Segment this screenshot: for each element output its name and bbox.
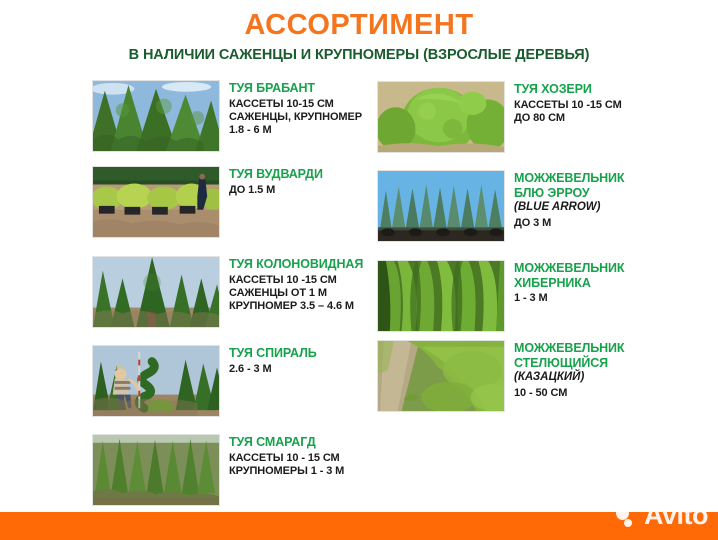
assortment-columns: ТУЯ БРАБАНТ КАССЕТЫ 10-15 СМ САЖЕНЦЫ, КР… — [0, 80, 718, 500]
list-item[interactable]: ТУЯ БРАБАНТ КАССЕТЫ 10-15 СМ САЖЕНЦЫ, КР… — [92, 80, 362, 152]
list-item[interactable]: МОЖЖЕВЕЛЬНИК БЛЮ ЭРРОУ (BLUE ARROW) ДО 3… — [377, 170, 624, 242]
plant-name: МОЖЖЕВЕЛЬНИК ХИБЕРНИКА — [514, 261, 624, 290]
thuja-hoseri-photo — [377, 81, 505, 153]
item-text: МОЖЖЕВЕЛЬНИК СТЕЛЮЩИЙСЯ (КАЗАЦКИЙ) 10 - … — [514, 340, 624, 400]
plant-spec: КАССЕТЫ 10-15 СМ САЖЕНЦЫ, КРУПНОМЕР 1.8 … — [229, 98, 362, 138]
plant-name: МОЖЖЕВЕЛЬНИК БЛЮ ЭРРОУ — [514, 171, 624, 200]
item-text: ТУЯ СПИРАЛЬ 2.6 - 3 М — [229, 345, 317, 376]
thuja-woodwardii-photo — [92, 166, 220, 238]
item-text: ТУЯ ХОЗЕРИ КАССЕТЫ 10 -15 СМ ДО 80 СМ — [514, 81, 622, 125]
item-text: МОЖЖЕВЕЛЬНИК БЛЮ ЭРРОУ (BLUE ARROW) ДО 3… — [514, 170, 624, 230]
list-item[interactable]: ТУЯ ХОЗЕРИ КАССЕТЫ 10 -15 СМ ДО 80 СМ — [377, 81, 622, 153]
list-item[interactable]: ТУЯ КОЛОНОВИДНАЯ КАССЕТЫ 10 -15 СМ САЖЕН… — [92, 256, 363, 328]
item-text: ТУЯ ВУДВАРДИ ДО 1.5 М — [229, 166, 323, 197]
plant-name: ТУЯ СПИРАЛЬ — [229, 346, 317, 361]
thuja-smaragd-photo — [92, 434, 220, 506]
list-item[interactable]: ТУЯ ВУДВАРДИ ДО 1.5 М — [92, 166, 323, 238]
plant-spec: ДО 1.5 М — [229, 184, 323, 197]
list-item[interactable]: ТУЯ СМАРАГД КАССЕТЫ 10 - 15 СМ КРУПНОМЕР… — [92, 434, 344, 506]
avito-watermark: Avito — [616, 498, 708, 532]
poster-header: АССОРТИМЕНТ В НАЛИЧИИ САЖЕНЦЫ И КРУПНОМЕ… — [0, 8, 718, 65]
plant-name: ТУЯ ХОЗЕРИ — [514, 82, 622, 97]
list-item[interactable]: МОЖЖЕВЕЛЬНИК СТЕЛЮЩИЙСЯ (КАЗАЦКИЙ) 10 - … — [377, 340, 624, 412]
plant-latin-name: (BLUE ARROW) — [514, 201, 624, 215]
item-text: ТУЯ КОЛОНОВИДНАЯ КАССЕТЫ 10 -15 СМ САЖЕН… — [229, 256, 363, 313]
thuja-brabant-photo — [92, 80, 220, 152]
thuja-columnar-photo — [92, 256, 220, 328]
plant-spec: ДО 3 М — [514, 217, 624, 230]
page-title: АССОРТИМЕНТ — [0, 8, 718, 42]
list-item[interactable]: ТУЯ СПИРАЛЬ 2.6 - 3 М — [92, 345, 317, 417]
plant-name: ТУЯ КОЛОНОВИДНАЯ — [229, 257, 363, 272]
plant-latin-name: (КАЗАЦКИЙ) — [514, 371, 624, 385]
thuja-spiral-photo — [92, 345, 220, 417]
list-item[interactable]: МОЖЖЕВЕЛЬНИК ХИБЕРНИКА 1 - 3 М — [377, 260, 624, 332]
avito-logo-icon — [616, 502, 642, 528]
plant-spec: 1 - 3 М — [514, 292, 624, 305]
item-text: МОЖЖЕВЕЛЬНИК ХИБЕРНИКА 1 - 3 М — [514, 260, 624, 305]
plant-name: МОЖЖЕВЕЛЬНИК СТЕЛЮЩИЙСЯ — [514, 341, 624, 370]
plant-name: ТУЯ ВУДВАРДИ — [229, 167, 323, 182]
assortment-poster: АССОРТИМЕНТ В НАЛИЧИИ САЖЕНЦЫ И КРУПНОМЕ… — [0, 0, 718, 540]
juniper-creeping-cossack-photo — [377, 340, 505, 412]
item-text: ТУЯ СМАРАГД КАССЕТЫ 10 - 15 СМ КРУПНОМЕР… — [229, 434, 344, 478]
item-text: ТУЯ БРАБАНТ КАССЕТЫ 10-15 СМ САЖЕНЦЫ, КР… — [229, 80, 362, 137]
avito-watermark-label: Avito — [644, 502, 708, 529]
plant-spec: 2.6 - 3 М — [229, 363, 317, 376]
plant-name: ТУЯ СМАРАГД — [229, 435, 344, 450]
juniper-blue-arrow-photo — [377, 170, 505, 242]
page-subtitle: В НАЛИЧИИ САЖЕНЦЫ И КРУПНОМЕРЫ (ВЗРОСЛЫЕ… — [0, 45, 718, 65]
plant-spec: КАССЕТЫ 10 - 15 СМ КРУПНОМЕРЫ 1 - 3 М — [229, 452, 344, 478]
plant-spec: КАССЕТЫ 10 -15 СМ САЖЕНЦЫ ОТ 1 М КРУПНОМ… — [229, 274, 363, 314]
plant-spec: 10 - 50 СМ — [514, 387, 624, 400]
juniper-hibernica-photo — [377, 260, 505, 332]
bottom-orange-band — [0, 512, 718, 540]
plant-name: ТУЯ БРАБАНТ — [229, 81, 362, 96]
plant-spec: КАССЕТЫ 10 -15 СМ ДО 80 СМ — [514, 99, 622, 125]
